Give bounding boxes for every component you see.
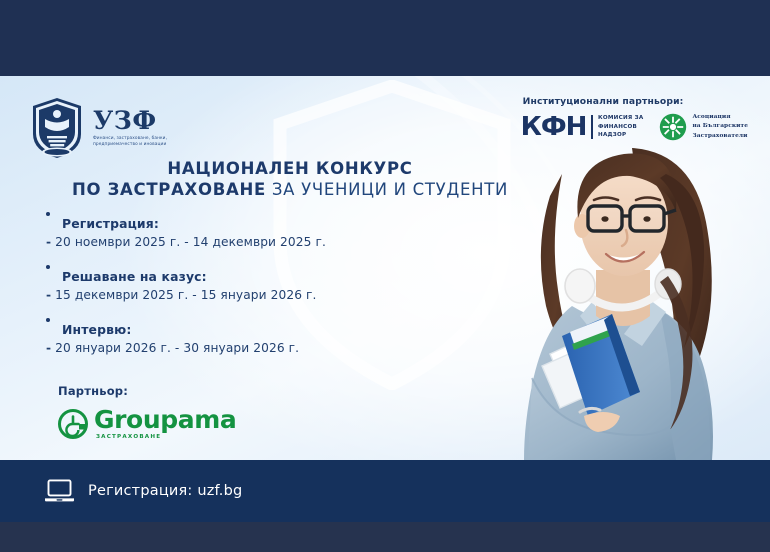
- schedule-item-title: Решаване на казус:: [62, 269, 207, 284]
- groupama-logo-icon: [58, 409, 88, 439]
- schedule-item-dates-text: 15 декември 2025 г. - 15 януари 2026 г.: [55, 288, 316, 302]
- schedule-item-dates-text: 20 януари 2026 г. - 30 януари 2026 г.: [55, 341, 299, 355]
- registration-cta-text[interactable]: Регистрация: uzf.bg: [88, 483, 242, 499]
- partner-label: Партньор:: [58, 384, 236, 398]
- schedule-item-title-row: Интервю:: [46, 322, 326, 337]
- dash-icon: -: [46, 341, 51, 355]
- abz-full-name: Асоциация на Българските Застрахователи: [692, 113, 748, 141]
- partner-section: Партньор: Groupama ЗАСТРАХОВАНЕ: [58, 384, 236, 440]
- kfn-name-line: КОМИСИЯ ЗА: [598, 114, 643, 123]
- schedule-item-title-row: Решаване на казус:: [46, 269, 326, 284]
- headline-line-2-light: ЗА УЧЕНИЦИ И СТУДЕНТИ: [272, 180, 508, 199]
- bullet-icon: [46, 318, 50, 322]
- bullet-icon: [46, 212, 50, 216]
- schedule-list: Регистрация: - 20 ноември 2025 г. - 14 д…: [46, 216, 326, 355]
- groupama-subtitle: ЗАСТРАХОВАНЕ: [96, 434, 236, 440]
- abz-name-line: на Българските: [692, 122, 748, 131]
- abz-tree-logo-icon: [659, 113, 687, 141]
- groupama-name: Groupama: [94, 407, 236, 432]
- schedule-item-dates: - 20 ноември 2025 г. - 14 декември 2025 …: [46, 235, 326, 249]
- top-band: [0, 0, 770, 76]
- uzf-logo-subtitle: Финанси, застраховане, банки, предприема…: [93, 136, 185, 149]
- list-item: Регистрация: - 20 ноември 2025 г. - 14 д…: [46, 216, 326, 249]
- institutional-partners: Институционални партньори: КФН КОМИСИЯ З…: [521, 96, 748, 141]
- groupama-logo[interactable]: Groupama ЗАСТРАХОВАНЕ: [58, 407, 236, 440]
- schedule-item-title: Интервю:: [62, 322, 131, 337]
- schedule-item-title: Регистрация:: [62, 216, 159, 231]
- uzf-logo[interactable]: УЗФ Финанси, застраховане, банки, предпр…: [30, 96, 185, 160]
- uzf-logo-word: УЗФ: [93, 108, 185, 133]
- kfn-full-name: КОМИСИЯ ЗА ФИНАНСОВ НАДЗОР: [598, 114, 643, 140]
- bullet-icon: [46, 265, 50, 269]
- bottom-band: [0, 522, 770, 552]
- abz-name-line: Асоциация: [692, 113, 748, 122]
- institutional-partners-row: КФН КОМИСИЯ ЗА ФИНАНСОВ НАДЗОР: [521, 113, 748, 141]
- list-item: Решаване на казус: - 15 декември 2025 г.…: [46, 269, 326, 302]
- schedule-item-title-row: Регистрация:: [46, 216, 326, 231]
- kfn-name-line: НАДЗОР: [598, 131, 643, 140]
- kfn-logo[interactable]: КФН КОМИСИЯ ЗА ФИНАНСОВ НАДЗОР: [521, 114, 644, 140]
- cta-band: Регистрация: uzf.bg: [0, 460, 770, 522]
- poster-root: УЗФ Финанси, застраховане, банки, предпр…: [0, 0, 770, 552]
- laptop-icon: [44, 479, 75, 503]
- registration-cta[interactable]: Регистрация: uzf.bg: [0, 479, 242, 503]
- uzf-shield-crest-icon: [30, 96, 84, 160]
- schedule-item-dates: - 20 януари 2026 г. - 30 януари 2026 г.: [46, 341, 326, 355]
- dash-icon: -: [46, 288, 51, 302]
- dash-icon: -: [46, 235, 51, 249]
- headline-line-2-bold: ПО ЗАСТРАХОВАНЕ: [72, 180, 266, 199]
- abz-logo[interactable]: Асоциация на Българските Застрахователи: [659, 113, 748, 141]
- kfn-divider: [591, 115, 593, 139]
- institutional-partners-label: Институционални партньори:: [523, 96, 748, 107]
- headline-line-1: НАЦИОНАЛЕН КОНКУРС: [0, 158, 580, 179]
- page-title: НАЦИОНАЛЕН КОНКУРС ПО ЗАСТРАХОВАНЕ ЗА УЧ…: [0, 158, 580, 200]
- schedule-item-dates-text: 20 ноември 2025 г. - 14 декември 2025 г.: [55, 235, 326, 249]
- schedule-item-dates: - 15 декември 2025 г. - 15 януари 2026 г…: [46, 288, 326, 302]
- kfn-mark: КФН: [521, 114, 587, 140]
- kfn-name-line: ФИНАНСОВ: [598, 123, 643, 132]
- abz-name-line: Застрахователи: [692, 132, 748, 141]
- main-stage: УЗФ Финанси, застраховане, банки, предпр…: [0, 76, 770, 460]
- headline-line-2: ПО ЗАСТРАХОВАНЕ ЗА УЧЕНИЦИ И СТУДЕНТИ: [0, 179, 580, 200]
- list-item: Интервю: - 20 януари 2026 г. - 30 януари…: [46, 322, 326, 355]
